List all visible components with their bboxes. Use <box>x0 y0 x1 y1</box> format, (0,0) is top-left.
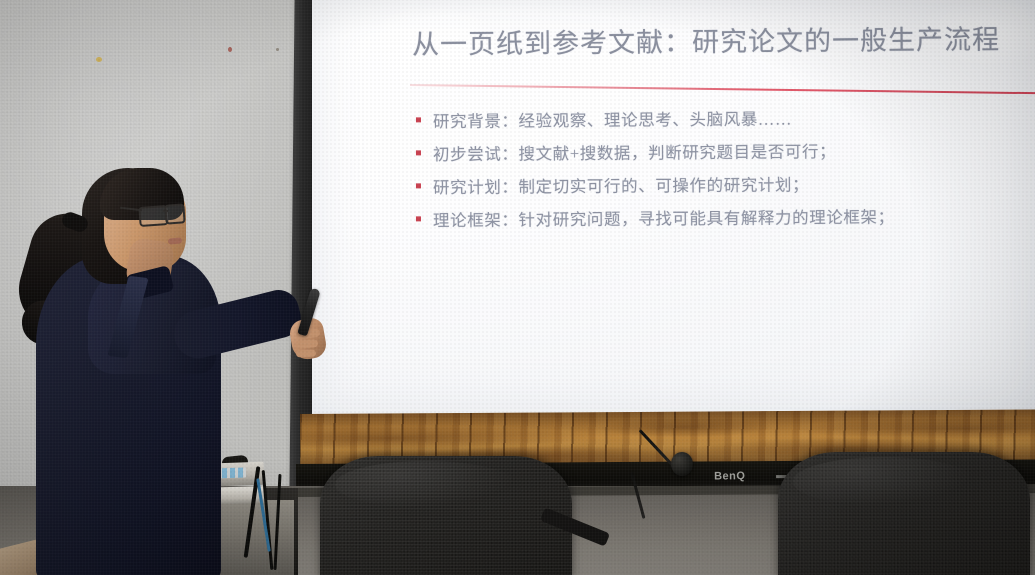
slide-bullet-text: 初步尝试：搜文献+搜数据，判断研究题目是否可行； <box>433 138 836 165</box>
presenter <box>0 0 340 575</box>
square-bullet-icon <box>416 150 421 155</box>
slide-bullet-item: 研究背景：经验观察、理论思考、头脑风暴…… <box>416 104 1026 142</box>
square-bullet-icon <box>416 183 421 188</box>
chair-highlight <box>793 457 974 505</box>
microphone-head-icon <box>671 452 693 476</box>
slide-bullet-item: 理论框架：针对研究问题，寻找可能具有解释力的理论框架； <box>416 203 1026 241</box>
finger <box>296 350 316 358</box>
slide-bullet-text: 研究背景：经验观察、理论思考、头脑风暴…… <box>433 105 792 132</box>
slide-divider-line <box>410 84 1035 94</box>
glasses-lens-right <box>164 203 185 224</box>
slide-bullet-list: 研究背景：经验观察、理论思考、头脑风暴…… 初步尝试：搜文献+搜数据，判断研究题… <box>416 106 1026 238</box>
lecture-room-photo: 从一页纸到参考文献：研究论文的一般生产流程 研究背景：经验观察、理论思考、头脑风… <box>0 0 1035 575</box>
chair-highlight <box>335 461 516 508</box>
projected-slide: 从一页纸到参考文献：研究论文的一般生产流程 研究背景：经验观察、理论思考、头脑风… <box>312 0 1035 416</box>
slide-bullet-item: 初步尝试：搜文献+搜数据，判断研究题目是否可行； <box>416 137 1026 175</box>
chair-right <box>778 452 1030 575</box>
slide-bullet-text: 研究计划：制定切实可行的、可操作的研究计划； <box>433 171 809 198</box>
square-bullet-icon <box>416 216 421 221</box>
slide-title: 从一页纸到参考文献：研究论文的一般生产流程 <box>412 17 1032 61</box>
chair-left <box>320 456 572 575</box>
slide-bullet-text: 理论框架：针对研究问题，寻找可能具有解释力的理论框架； <box>433 204 895 232</box>
slide-bullet-item: 研究计划：制定切实可行的、可操作的研究计划； <box>416 170 1026 208</box>
benq-brand-logo: BenQ <box>714 470 745 482</box>
glasses-bridge <box>163 210 168 212</box>
square-bullet-icon <box>416 117 421 122</box>
